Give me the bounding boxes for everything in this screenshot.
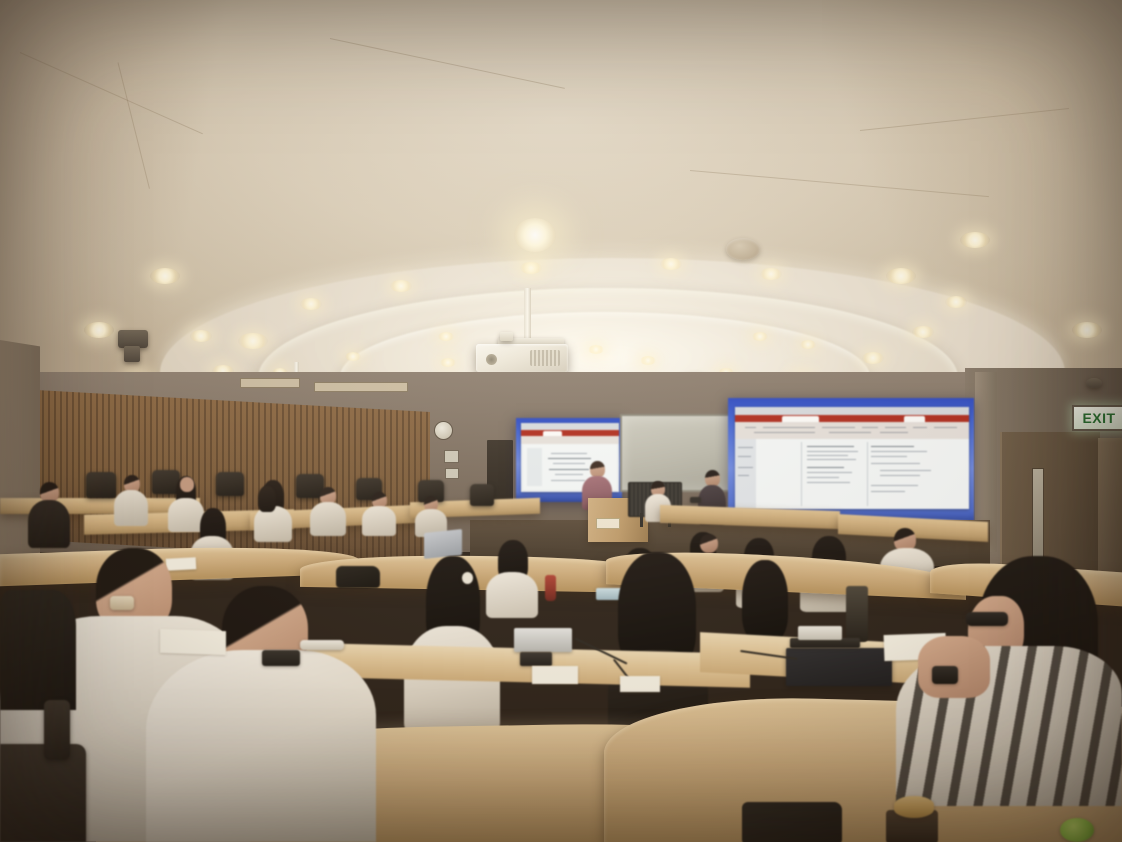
projector-bracket [500, 332, 513, 341]
exit-sign-label: EXIT [1082, 410, 1115, 426]
chair [216, 472, 244, 496]
chair-arm [44, 700, 70, 760]
downlight [588, 345, 604, 354]
downlight [190, 330, 212, 342]
cart-leg [640, 513, 643, 527]
chair [86, 472, 116, 498]
green-object [1060, 818, 1094, 842]
lectern-placard [596, 518, 620, 529]
downlight [760, 268, 782, 280]
water-bottle-dark [846, 586, 868, 642]
wall-clock [434, 421, 453, 440]
downlight [800, 340, 816, 349]
downlight [752, 332, 768, 341]
document-navigation-pane[interactable] [735, 439, 757, 510]
downlight-bright [514, 218, 556, 252]
ceiling-speaker-right [1086, 378, 1102, 388]
wall-notice-sign [445, 468, 459, 479]
backpack-foreground [742, 802, 842, 842]
window-titlebar [521, 423, 619, 430]
right-projection-screen [728, 398, 974, 526]
handheld-device [690, 497, 701, 503]
hair-clip [462, 572, 473, 584]
eyeglasses [966, 612, 1008, 626]
smartphone[interactable] [262, 650, 300, 666]
paper-sheet [532, 666, 578, 684]
downlight [912, 326, 934, 338]
ceiling-speaker [726, 238, 760, 260]
downlight [1072, 322, 1102, 338]
downlight [390, 280, 412, 292]
downlight [300, 298, 322, 310]
adapter-plug [520, 652, 552, 666]
downlight [84, 322, 114, 338]
exit-sign: EXIT [1072, 405, 1122, 431]
paper-sheet [160, 629, 226, 655]
wall-light-strip [314, 382, 408, 392]
screen-window [735, 407, 969, 509]
app-ribbon [735, 415, 969, 422]
student-torso [146, 650, 376, 842]
downlight [238, 333, 268, 349]
downlight [440, 358, 456, 367]
downlight [886, 268, 916, 284]
exit-door-secondary[interactable] [1098, 438, 1122, 583]
laptop[interactable] [786, 648, 892, 686]
wall-notice-sign [444, 450, 459, 463]
projector-vent [530, 350, 560, 366]
ceiling [0, 0, 1122, 420]
laptop-screen [424, 529, 462, 559]
desk-item [300, 640, 344, 650]
backpack [336, 566, 380, 588]
app-toolbar [521, 436, 619, 444]
downlight [660, 258, 682, 270]
chair-foreground [0, 744, 86, 842]
ceiling-seam [330, 38, 565, 89]
camera-body [124, 346, 140, 362]
lecture-hall-photo: EXIT [0, 0, 1122, 842]
ribbon-tab[interactable] [543, 431, 563, 437]
document-body [756, 439, 969, 510]
desk-item [110, 596, 134, 610]
chair [470, 484, 494, 506]
backpack [0, 590, 76, 710]
downlight [520, 262, 542, 274]
downlight [345, 352, 361, 361]
downlight [862, 352, 884, 364]
paper-sheet [166, 557, 197, 571]
window-titlebar [735, 407, 969, 415]
wristwatch [932, 666, 958, 684]
wall-light-strip [240, 378, 300, 388]
downlight [640, 356, 656, 365]
app-toolbar [735, 422, 969, 438]
projector-mount-pole [524, 288, 531, 344]
water-bottle-red [545, 575, 556, 601]
downlight [150, 268, 180, 284]
downlight [960, 232, 990, 248]
downlight [438, 332, 454, 341]
paper-sheet [620, 676, 660, 692]
power-adapter [514, 628, 572, 652]
projector-lens [486, 354, 497, 365]
downlight [945, 296, 967, 308]
power-adapter [798, 626, 842, 640]
tumbler-gold-cap [894, 796, 934, 818]
